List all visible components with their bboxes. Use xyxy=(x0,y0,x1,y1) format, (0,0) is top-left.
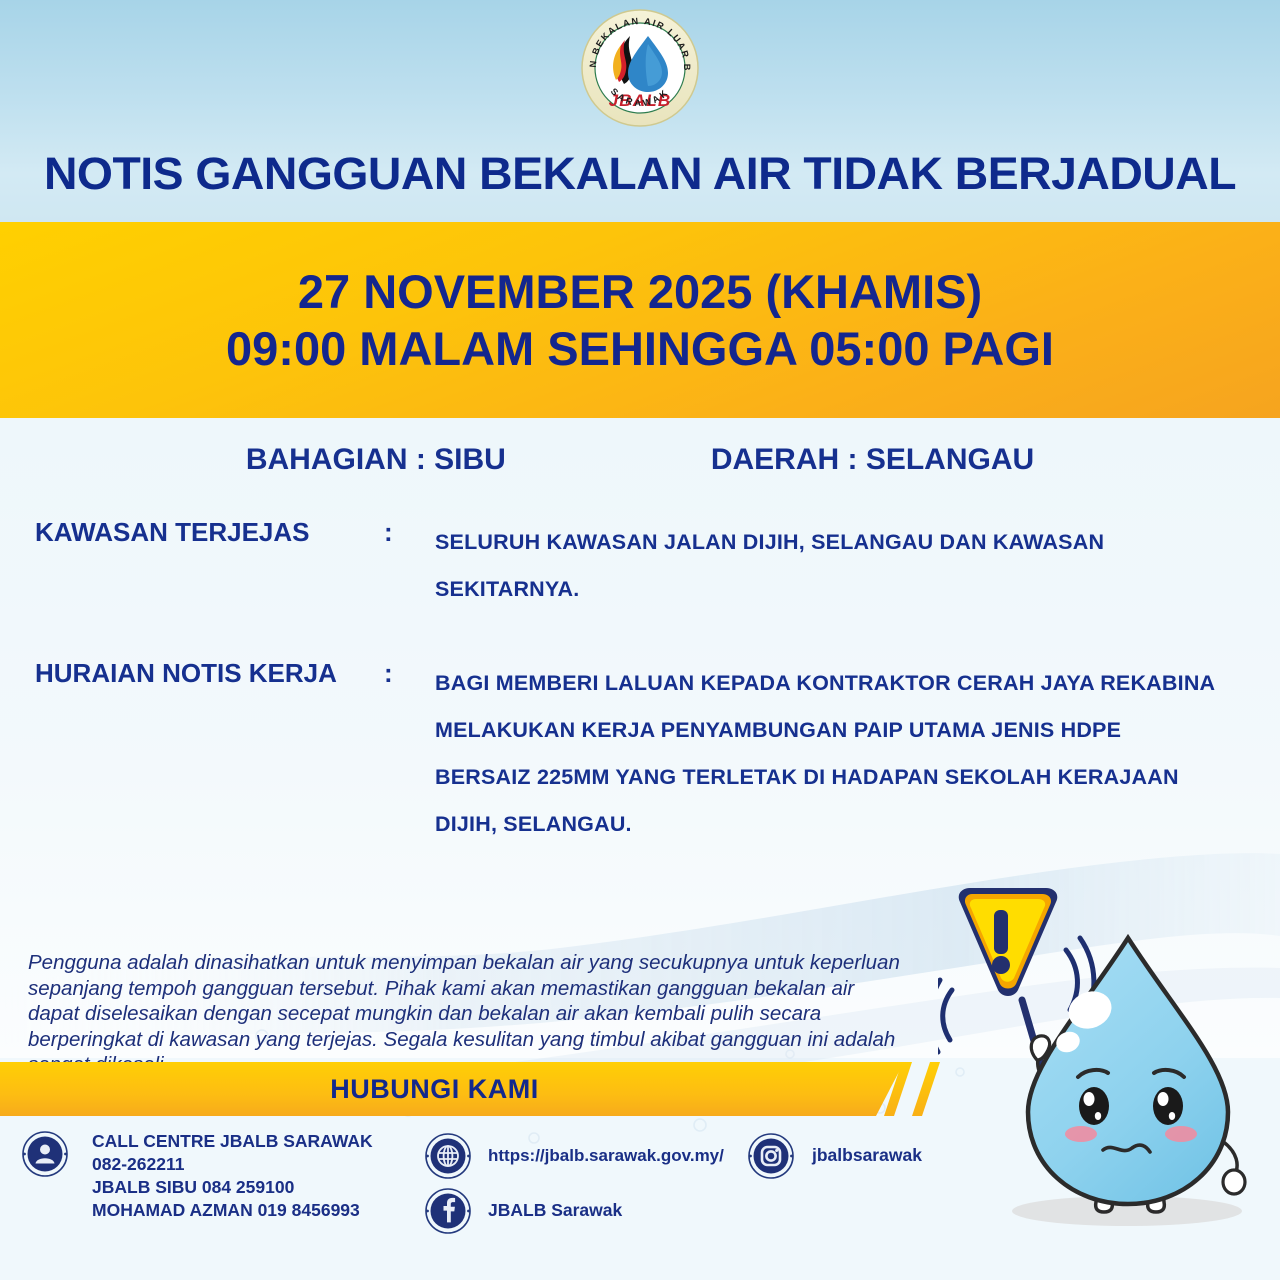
field-value-line: SELURUH KAWASAN JALAN DIJIH, SELANGAU DA… xyxy=(435,519,1220,566)
field-label: HURAIAN NOTIS KERJA xyxy=(35,658,337,689)
notice-time-range: 09:00 MALAM SEHINGGA 05:00 PAGI xyxy=(226,320,1054,377)
field-value-line: MELAKUKAN KERJA PENYAMBUNGAN PAIP UTAMA … xyxy=(435,707,1220,754)
instagram-icon[interactable] xyxy=(748,1133,794,1179)
header-band: JBALB JABATAN BEKALAN AIR LUAR BANDAR SA… xyxy=(0,0,1280,222)
call-centre-line2: 082-262211 xyxy=(92,1153,373,1176)
field-value-line: BERSAIZ 225MM YANG TERLETAK DI HADAPAN S… xyxy=(435,754,1220,801)
daerah-label: DAERAH : SELANGAU xyxy=(711,443,1034,477)
call-centre-line4: MOHAMAD AZMAN 019 8456993 xyxy=(92,1199,373,1222)
field-value: BAGI MEMBERI LALUAN KEPADA KONTRAKTOR CE… xyxy=(435,660,1220,848)
disclaimer-text: Pengguna adalah dinasihatkan untuk menyi… xyxy=(28,950,908,1078)
facebook-handle[interactable]: JBALB Sarawak xyxy=(488,1199,622,1222)
field-colon: : xyxy=(384,658,393,689)
call-centre-text-block: CALL CENTRE JBALB SARAWAK 082-262211 JBA… xyxy=(92,1130,373,1222)
field-value: SELURUH KAWASAN JALAN DIJIH, SELANGAU DA… xyxy=(435,519,1220,613)
region-row: BAHAGIAN : SIBU DAERAH : SELANGAU xyxy=(0,443,1280,477)
field-colon: : xyxy=(384,517,393,548)
field-value-line: SEKITARNYA. xyxy=(435,566,1220,613)
banner-stripe-decor xyxy=(912,1062,958,1116)
contact-banner: HUBUNGI KAMI xyxy=(0,1062,904,1116)
notice-poster: JBALB JABATAN BEKALAN AIR LUAR BANDAR SA… xyxy=(0,0,1280,1280)
person-icon xyxy=(22,1131,68,1177)
field-label: KAWASAN TERJEJAS xyxy=(35,517,310,548)
field-value-line: BAGI MEMBERI LALUAN KEPADA KONTRAKTOR CE… xyxy=(435,660,1220,707)
call-centre-line3: JBALB SIBU 084 259100 xyxy=(92,1176,373,1199)
facebook-icon[interactable] xyxy=(425,1188,471,1234)
water-droplet-flame-logo-icon: JBALB JABATAN BEKALAN AIR LUAR BANDAR SA… xyxy=(578,6,702,130)
page-title: NOTIS GANGGUAN BEKALAN AIR TIDAK BERJADU… xyxy=(0,148,1280,200)
jbalb-logo: JBALB JABATAN BEKALAN AIR LUAR BANDAR SA… xyxy=(578,6,702,130)
instagram-handle[interactable]: jbalbsarawak xyxy=(812,1144,922,1167)
contact-banner-title: HUBUNGI KAMI xyxy=(330,1074,539,1105)
website-link[interactable]: https://jbalb.sarawak.gov.my/ xyxy=(488,1144,724,1167)
notice-date: 27 NOVEMBER 2025 (KHAMIS) xyxy=(298,263,982,320)
bahagian-label: BAHAGIAN : SIBU xyxy=(246,443,506,477)
field-value-line: DIJIH, SELANGAU. xyxy=(435,801,1220,848)
date-time-banner: 27 NOVEMBER 2025 (KHAMIS) 09:00 MALAM SE… xyxy=(0,222,1280,418)
call-centre-line1: CALL CENTRE JBALB SARAWAK xyxy=(92,1130,373,1153)
globe-icon[interactable] xyxy=(425,1133,471,1179)
